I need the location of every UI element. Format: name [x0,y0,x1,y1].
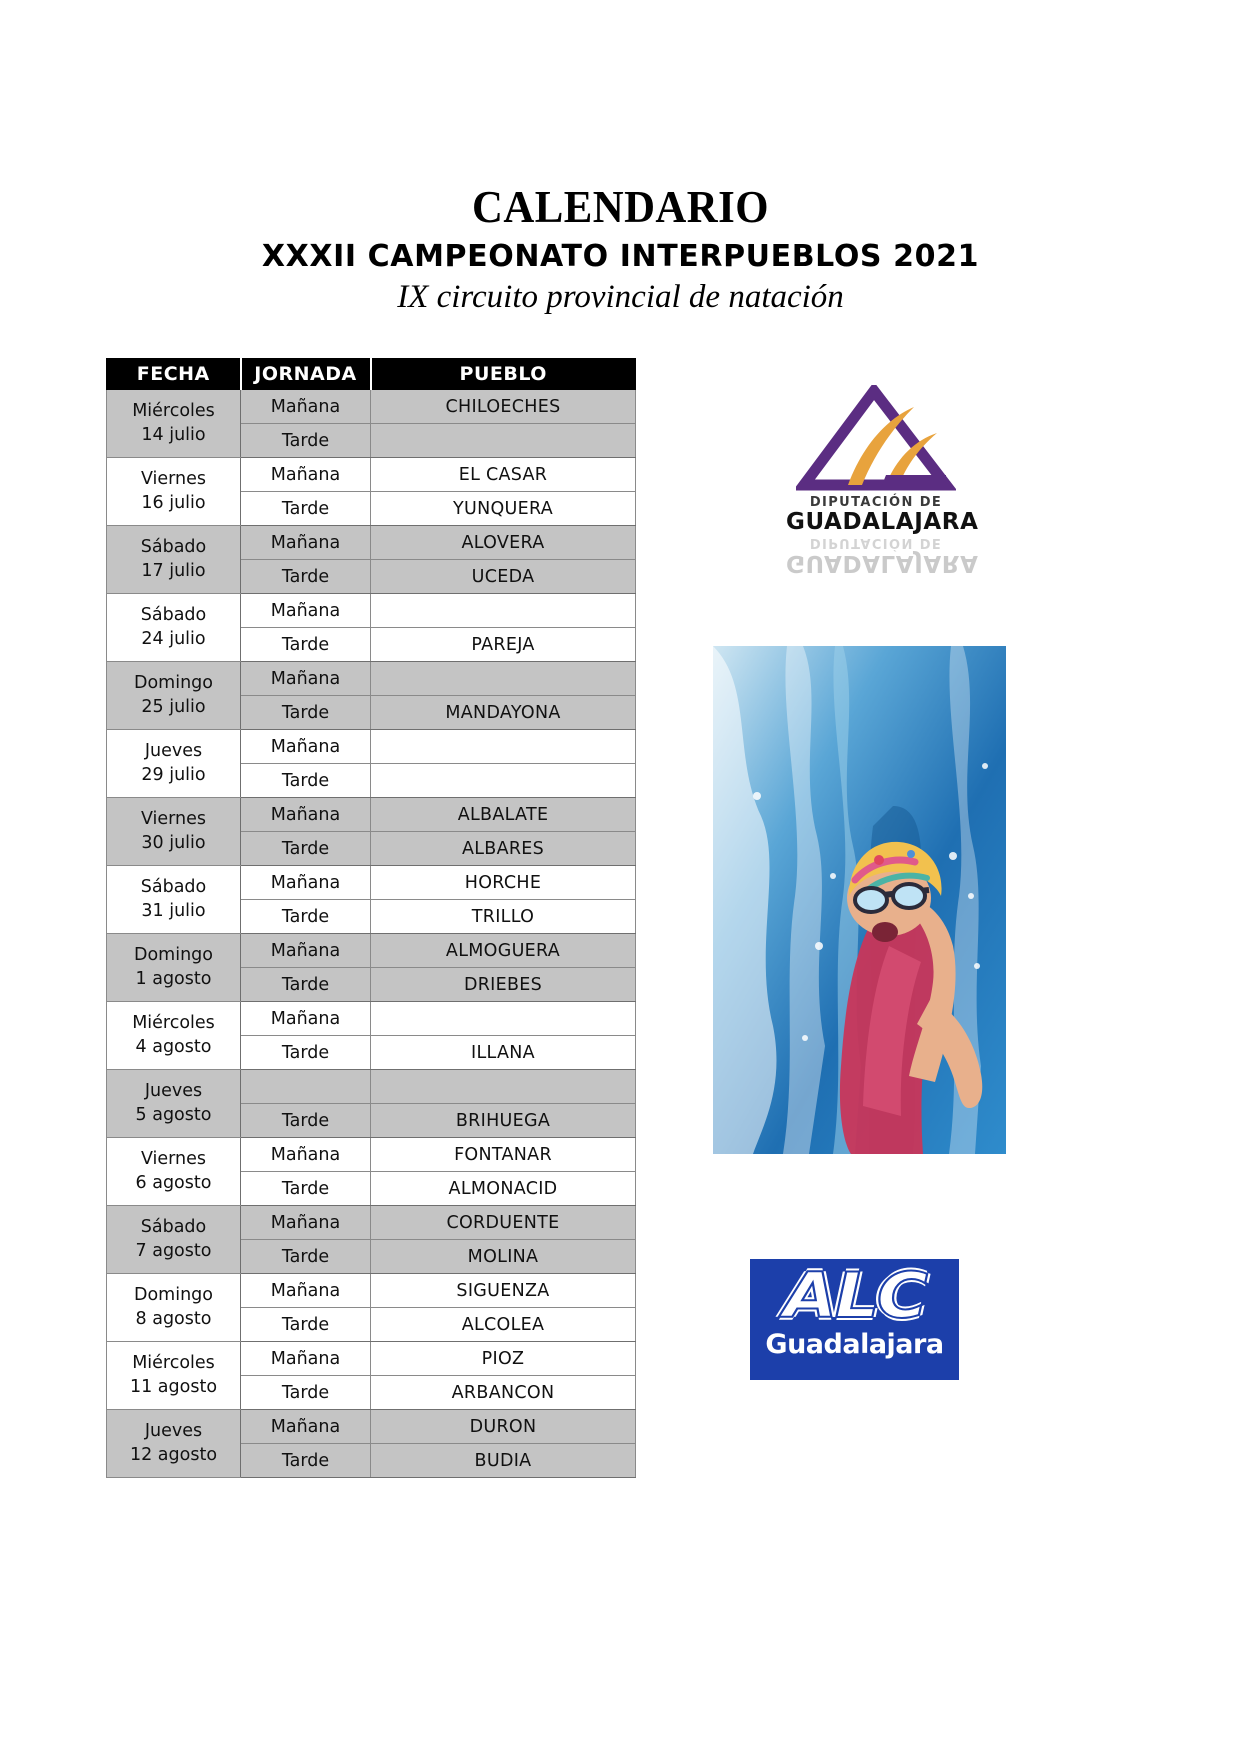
table-row: Viernes30 julioMañanaALBALATE [107,798,636,832]
fecha-day: 8 agosto [109,1308,238,1331]
cell-pueblo-manana [371,1070,636,1104]
fecha-weekday: Sábado [109,1216,238,1239]
page-title: CALENDARIO [43,182,1197,232]
cell-jornada-tarde: Tarde [241,1308,371,1342]
cell-pueblo-tarde: BUDIA [371,1444,636,1478]
cell-pueblo-tarde [371,764,636,798]
cell-jornada-tarde: Tarde [241,628,371,662]
column-header-pueblo: PUEBLO [371,359,636,390]
fecha-weekday: Viernes [109,808,238,831]
fecha-day: 7 agosto [109,1240,238,1263]
table-row: Sábado7 agostoMañanaCORDUENTE [107,1206,636,1240]
table-row: Miércoles4 agostoMañana [107,1002,636,1036]
page-subtitle: XXXII CAMPEONATO INTERPUEBLOS 2021 [0,238,1241,276]
fecha-weekday: Miércoles [109,1352,238,1375]
cell-jornada-manana: Mañana [241,526,371,560]
fecha-day: 1 agosto [109,968,238,991]
fecha-weekday: Domingo [109,672,238,695]
cell-fecha: Viernes6 agosto [107,1138,241,1206]
cell-jornada-manana: Mañana [241,798,371,832]
cell-jornada-tarde: Tarde [241,832,371,866]
cell-pueblo-manana: PIOZ [371,1342,636,1376]
table-row: Domingo25 julioMañana [107,662,636,696]
cell-pueblo-tarde: ARBANCON [371,1376,636,1410]
fecha-day: 24 julio [109,628,238,651]
table-row: Domingo1 agostoMañanaALMOGUERA [107,934,636,968]
cell-jornada-manana: Mañana [241,458,371,492]
cell-fecha: Viernes30 julio [107,798,241,866]
calendar-table: FECHA JORNADA PUEBLO Miércoles14 julioMa… [106,358,636,1478]
cell-jornada-manana: Mañana [241,1410,371,1444]
diputacion-line1: DIPUTACIÓN DE [786,495,966,510]
alc-logo-subtext: Guadalajara [750,1331,959,1358]
cell-jornada-manana: Mañana [241,1002,371,1036]
cell-fecha: Viernes16 julio [107,458,241,526]
cell-pueblo-manana [371,662,636,696]
column-header-jornada: JORNADA [241,359,371,390]
cell-pueblo-manana: HORCHE [371,866,636,900]
cell-jornada-manana: Mañana [241,1342,371,1376]
cell-jornada-manana: Mañana [241,1274,371,1308]
cell-pueblo-tarde: YUNQUERA [371,492,636,526]
cell-jornada-manana: Mañana [241,730,371,764]
column-header-fecha: FECHA [107,359,241,390]
cell-jornada-tarde: Tarde [241,424,371,458]
cell-fecha: Domingo25 julio [107,662,241,730]
cell-pueblo-manana: DURON [371,1410,636,1444]
diputacion-mark-icon [796,385,956,495]
cell-fecha: Miércoles4 agosto [107,1002,241,1070]
cell-fecha: Sábado24 julio [107,594,241,662]
fecha-day: 16 julio [109,492,238,515]
table-row: Sábado17 julioMañanaALOVERA [107,526,636,560]
cell-pueblo-manana: ALBALATE [371,798,636,832]
fecha-day: 11 agosto [109,1376,238,1399]
cell-pueblo-manana: CHILOECHES [371,390,636,424]
table-row: Sábado24 julioMañana [107,594,636,628]
diputacion-line1-reflection: DIPUTACIÓN DE [786,535,966,550]
cell-fecha: Domingo1 agosto [107,934,241,1002]
calendar-table-body: Miércoles14 julioMañanaCHILOECHESTardeVi… [107,390,636,1478]
fecha-day: 6 agosto [109,1172,238,1195]
fecha-day: 12 agosto [109,1444,238,1467]
diputacion-line2: GUADALAJARA [786,509,966,535]
cell-pueblo-tarde: DRIEBES [371,968,636,1002]
cell-pueblo-tarde: ILLANA [371,1036,636,1070]
fecha-day: 5 agosto [109,1104,238,1127]
cell-jornada-tarde: Tarde [241,1036,371,1070]
cell-pueblo-manana: CORDUENTE [371,1206,636,1240]
fecha-day: 14 julio [109,424,238,447]
cell-pueblo-tarde: PAREJA [371,628,636,662]
cell-pueblo-tarde: ALCOLEA [371,1308,636,1342]
cell-fecha: Miércoles11 agosto [107,1342,241,1410]
table-row: Domingo8 agostoMañanaSIGUENZA [107,1274,636,1308]
cell-pueblo-tarde: MOLINA [371,1240,636,1274]
fecha-day: 30 julio [109,832,238,855]
cell-fecha: Miércoles14 julio [107,390,241,458]
cell-jornada-tarde: Tarde [241,492,371,526]
alc-guadalajara-logo: ALC Guadalajara [748,1257,961,1382]
table-row: Jueves29 julioMañana [107,730,636,764]
table-row: Jueves5 agosto [107,1070,636,1104]
cell-pueblo-manana [371,1002,636,1036]
table-row: Miércoles11 agostoMañanaPIOZ [107,1342,636,1376]
fecha-weekday: Miércoles [109,400,238,423]
fecha-weekday: Jueves [109,1420,238,1443]
cell-jornada-tarde: Tarde [241,764,371,798]
fecha-weekday: Sábado [109,876,238,899]
cell-jornada-tarde: Tarde [241,1172,371,1206]
cell-pueblo-tarde: TRILLO [371,900,636,934]
cell-jornada-tarde: Tarde [241,1104,371,1138]
fecha-day: 4 agosto [109,1036,238,1059]
cell-pueblo-manana [371,594,636,628]
fecha-weekday: Viernes [109,1148,238,1171]
cell-jornada-manana: Mañana [241,594,371,628]
fecha-day: 17 julio [109,560,238,583]
fecha-weekday: Domingo [109,944,238,967]
fecha-day: 29 julio [109,764,238,787]
calendar-table-head: FECHA JORNADA PUEBLO [107,359,636,390]
cell-fecha: Sábado7 agosto [107,1206,241,1274]
fecha-day: 25 julio [109,696,238,719]
diputacion-wordmark-reflection: GUADALAJARA DIPUTACIÓN DE [786,535,966,576]
fecha-weekday: Domingo [109,1284,238,1307]
diputacion-wordmark: DIPUTACIÓN DE GUADALAJARA [786,495,966,535]
fecha-weekday: Miércoles [109,1012,238,1035]
table-row: Miércoles14 julioMañanaCHILOECHES [107,390,636,424]
table-row: Sábado31 julioMañanaHORCHE [107,866,636,900]
cell-pueblo-tarde: UCEDA [371,560,636,594]
cell-fecha: Jueves12 agosto [107,1410,241,1478]
fecha-weekday: Jueves [109,740,238,763]
cell-pueblo-manana: ALMOGUERA [371,934,636,968]
swimmer-photo [713,646,1006,1154]
alc-logo-text: ALC [737,1259,971,1327]
cell-pueblo-tarde: MANDAYONA [371,696,636,730]
cell-pueblo-manana: ALOVERA [371,526,636,560]
cell-jornada-manana: Mañana [241,866,371,900]
cell-jornada-tarde: Tarde [241,1376,371,1410]
cell-pueblo-manana: FONTANAR [371,1138,636,1172]
cell-fecha: Jueves29 julio [107,730,241,798]
cell-jornada-tarde: Tarde [241,1240,371,1274]
fecha-weekday: Sábado [109,604,238,627]
cell-fecha: Jueves5 agosto [107,1070,241,1138]
cell-fecha: Sábado17 julio [107,526,241,594]
diputacion-guadalajara-logo: DIPUTACIÓN DE GUADALAJARA GUADALAJARA DI… [786,385,966,550]
cell-pueblo-manana [371,730,636,764]
cell-pueblo-tarde [371,424,636,458]
table-row: Viernes16 julioMañanaEL CASAR [107,458,636,492]
cell-jornada-manana [241,1070,371,1104]
cell-pueblo-tarde: BRIHUEGA [371,1104,636,1138]
cell-jornada-manana: Mañana [241,390,371,424]
table-row: Viernes6 agostoMañanaFONTANAR [107,1138,636,1172]
cell-pueblo-manana: SIGUENZA [371,1274,636,1308]
fecha-weekday: Viernes [109,468,238,491]
fecha-weekday: Jueves [109,1080,238,1103]
cell-jornada-manana: Mañana [241,1138,371,1172]
cell-fecha: Sábado31 julio [107,866,241,934]
cell-jornada-tarde: Tarde [241,696,371,730]
cell-pueblo-manana: EL CASAR [371,458,636,492]
document-header: CALENDARIO XXXII CAMPEONATO INTERPUEBLOS… [0,182,1241,318]
fecha-day: 31 julio [109,900,238,923]
cell-pueblo-tarde: ALMONACID [371,1172,636,1206]
page-subtitle-secondary: IX circuito provincial de natación [0,278,1241,318]
cell-jornada-tarde: Tarde [241,900,371,934]
cell-jornada-manana: Mañana [241,662,371,696]
cell-jornada-manana: Mañana [241,934,371,968]
diputacion-line2-reflection: GUADALAJARA [786,550,966,576]
cell-fecha: Domingo8 agosto [107,1274,241,1342]
cell-jornada-tarde: Tarde [241,1444,371,1478]
cell-jornada-tarde: Tarde [241,968,371,1002]
cell-jornada-manana: Mañana [241,1206,371,1240]
table-row: Jueves12 agostoMañanaDURON [107,1410,636,1444]
fecha-weekday: Sábado [109,536,238,559]
cell-pueblo-tarde: ALBARES [371,832,636,866]
cell-jornada-tarde: Tarde [241,560,371,594]
table-header-row: FECHA JORNADA PUEBLO [107,359,636,390]
